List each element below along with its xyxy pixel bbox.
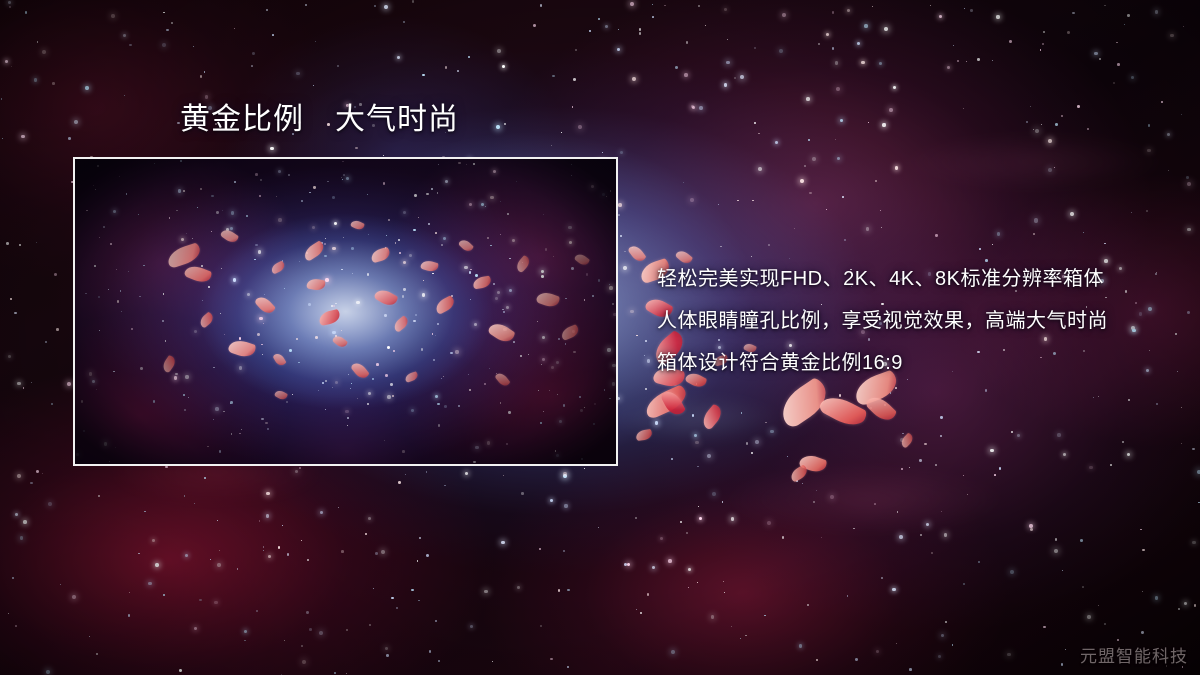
display-preview-frame[interactable]	[73, 157, 618, 466]
page-title: 黄金比例 大气时尚	[180, 101, 459, 139]
display-vignette	[75, 159, 616, 464]
watermark: 元盟智能科技	[1080, 642, 1188, 667]
display-preview-content	[75, 159, 616, 464]
body-line-2: 人体眼睛瞳孔比例，享受视觉效果，高端大气时尚	[657, 300, 1157, 342]
body-line-3: 箱体设计符合黄金比例16:9	[657, 342, 1157, 384]
body-line-1: 轻松完美实现FHD、2K、4K、8K标准分辨率箱体	[657, 258, 1157, 300]
presentation-slide: 黄金比例 大气时尚 轻松完美实现FHD、2K、4K、8K标准分辨率箱体 人体眼睛…	[0, 0, 1200, 675]
body-copy: 轻松完美实现FHD、2K、4K、8K标准分辨率箱体 人体眼睛瞳孔比例，享受视觉效…	[657, 258, 1157, 384]
